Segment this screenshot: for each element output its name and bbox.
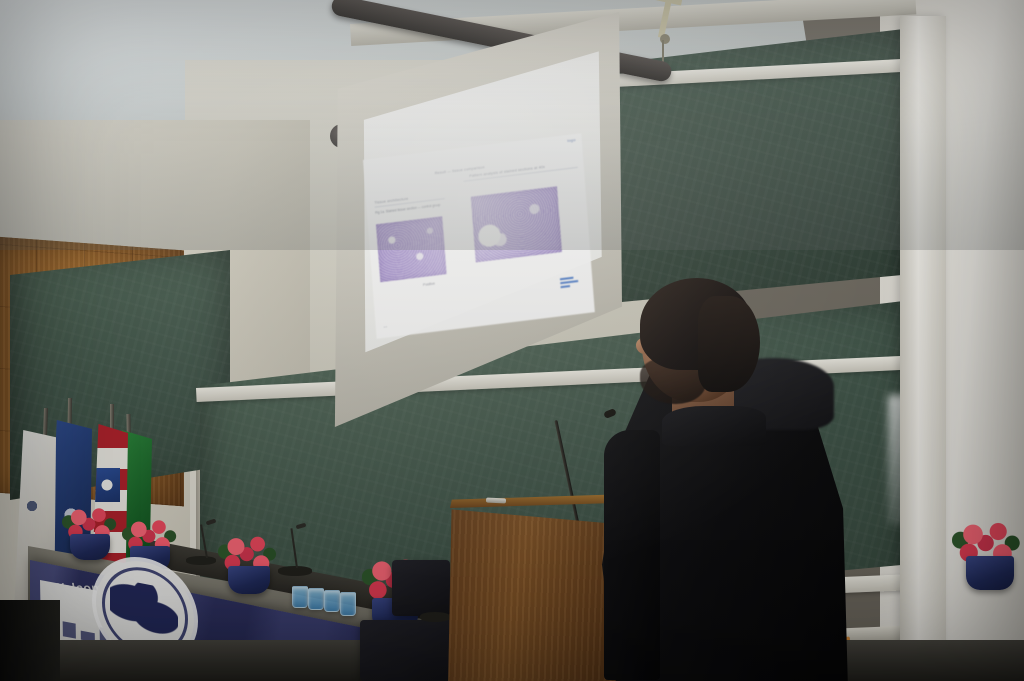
drinking-glass[interactable] [340, 592, 356, 616]
histology-micrograph-right [471, 186, 562, 262]
slide-center-label: Positive [423, 282, 435, 287]
wall-pillar [900, 16, 946, 681]
slide-brand-mark: logo [567, 137, 576, 143]
lecture-hall-photo: logo Result — tissue comparison Pattern … [0, 0, 1024, 681]
drinking-glass[interactable] [324, 590, 340, 612]
drinking-glass[interactable] [308, 588, 324, 610]
presentation-clicker[interactable] [486, 497, 506, 503]
slide-footer-notes: • • [384, 324, 387, 330]
slide-footer-logo [560, 273, 585, 292]
flower-pot [70, 534, 110, 560]
presenter-collar [662, 406, 766, 446]
histology-micrograph-left [376, 216, 446, 282]
foreground-shadow [0, 600, 60, 681]
flower-pot [966, 556, 1014, 590]
presenter [588, 280, 848, 681]
chair[interactable] [392, 560, 450, 616]
presentation-slide: logo Result — tissue comparison Pattern … [363, 133, 595, 338]
screen-wall-bracket [648, 0, 688, 44]
flower-pot [228, 566, 270, 594]
table-microphone-base [186, 556, 216, 565]
drinking-glass[interactable] [292, 586, 308, 608]
table-microphone-base [420, 612, 450, 622]
presenter-arm [604, 430, 660, 680]
